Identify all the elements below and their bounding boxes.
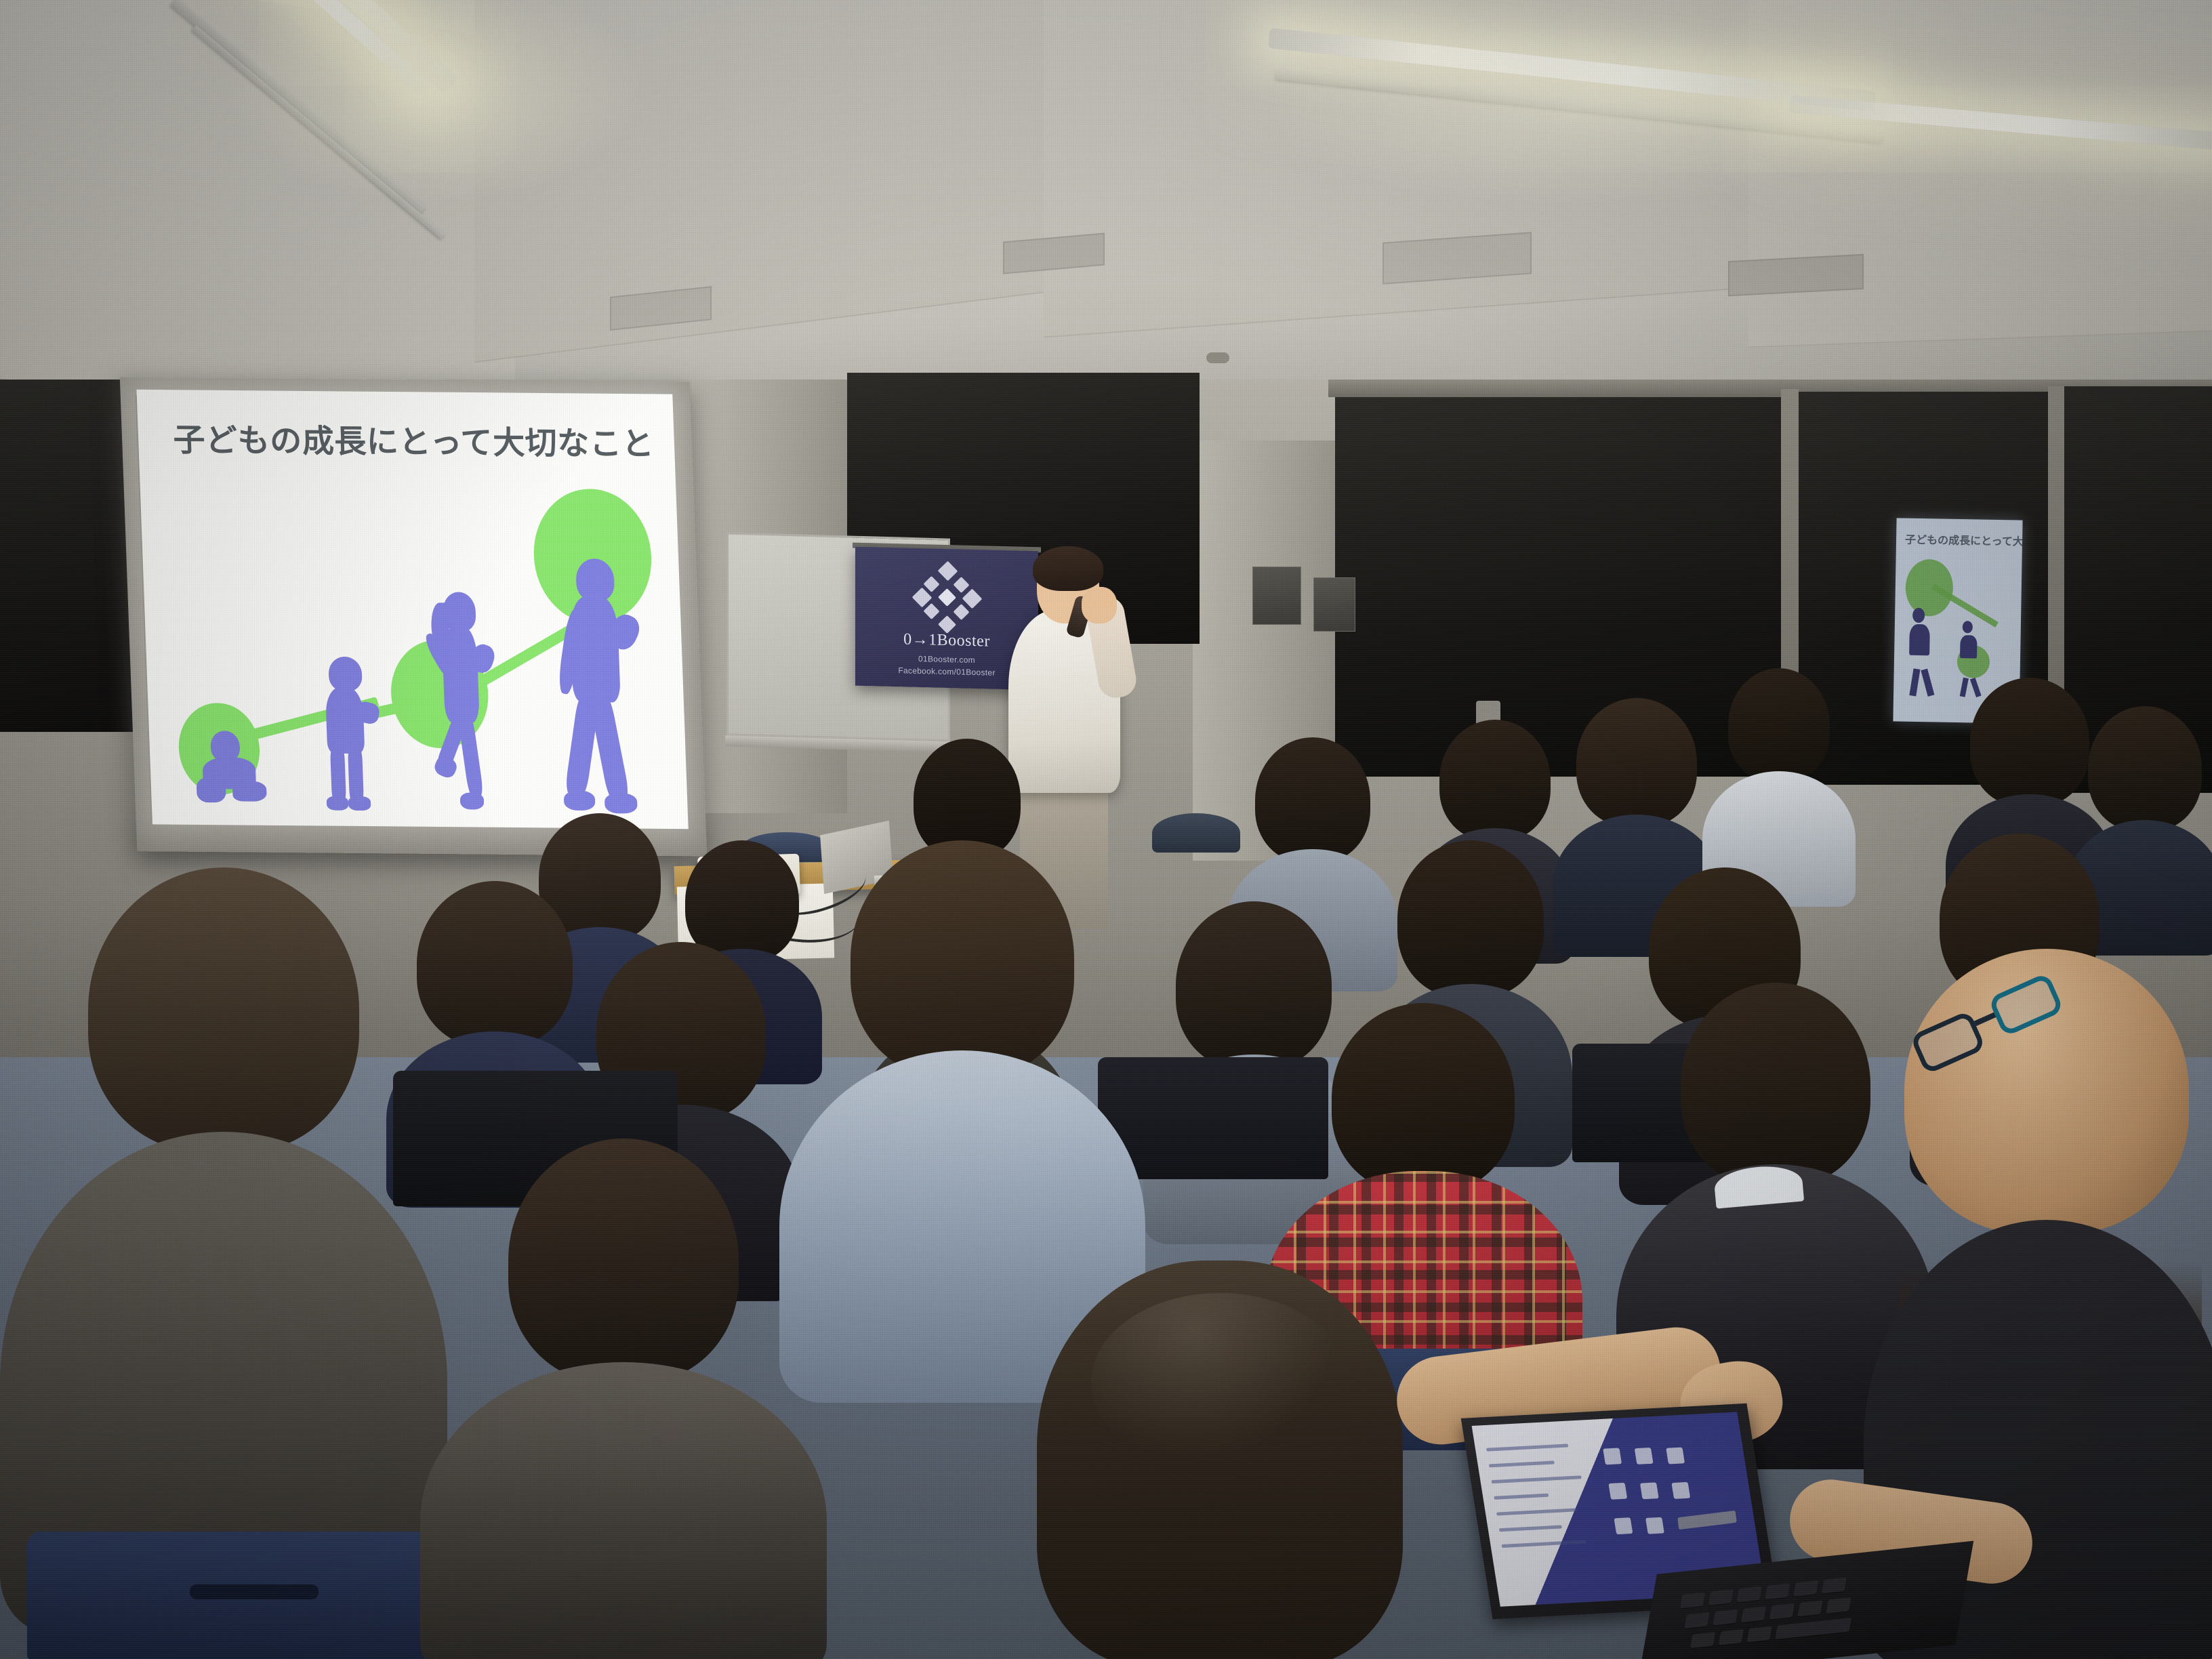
figure-child: [422, 592, 505, 810]
slide-content: 子どもの成長にとって大切なこと: [136, 390, 688, 829]
diamond-cluster-logo: [915, 563, 980, 630]
audience-member: [434, 1139, 813, 1659]
smoke-detector-icon: [1206, 352, 1229, 363]
presenter-hair: [1033, 546, 1103, 591]
figure-baby: [189, 729, 278, 808]
presenter-hand: [1082, 587, 1117, 623]
audience-member-grey-jacket: [14, 867, 434, 1626]
secondary-display-title: 子どもの成長にとって大切なこと: [1905, 531, 2018, 549]
banner-brand: 0→1Booster: [855, 630, 1038, 653]
projection-screen: 子どもの成長にとって大切なこと: [120, 377, 707, 857]
slide-title: 子どもの成長にとって大切なこと: [172, 413, 659, 464]
wall-poster: [1313, 577, 1355, 632]
ceiling-vent: [1728, 254, 1864, 296]
audience-member: [1708, 668, 1850, 892]
figure-adult: [550, 558, 650, 811]
stool[interactable]: [1152, 813, 1240, 853]
chair-slot: [190, 1584, 319, 1599]
figure-toddler: [312, 656, 382, 808]
wall-poster: [1252, 567, 1301, 625]
ceiling: [0, 0, 2212, 420]
audience-member-long-hair: [1030, 1261, 1410, 1659]
seminar-room-photo: 子どもの成長にとって大切なこと 子どもの成長にとって大切なこと: [0, 0, 2212, 1659]
